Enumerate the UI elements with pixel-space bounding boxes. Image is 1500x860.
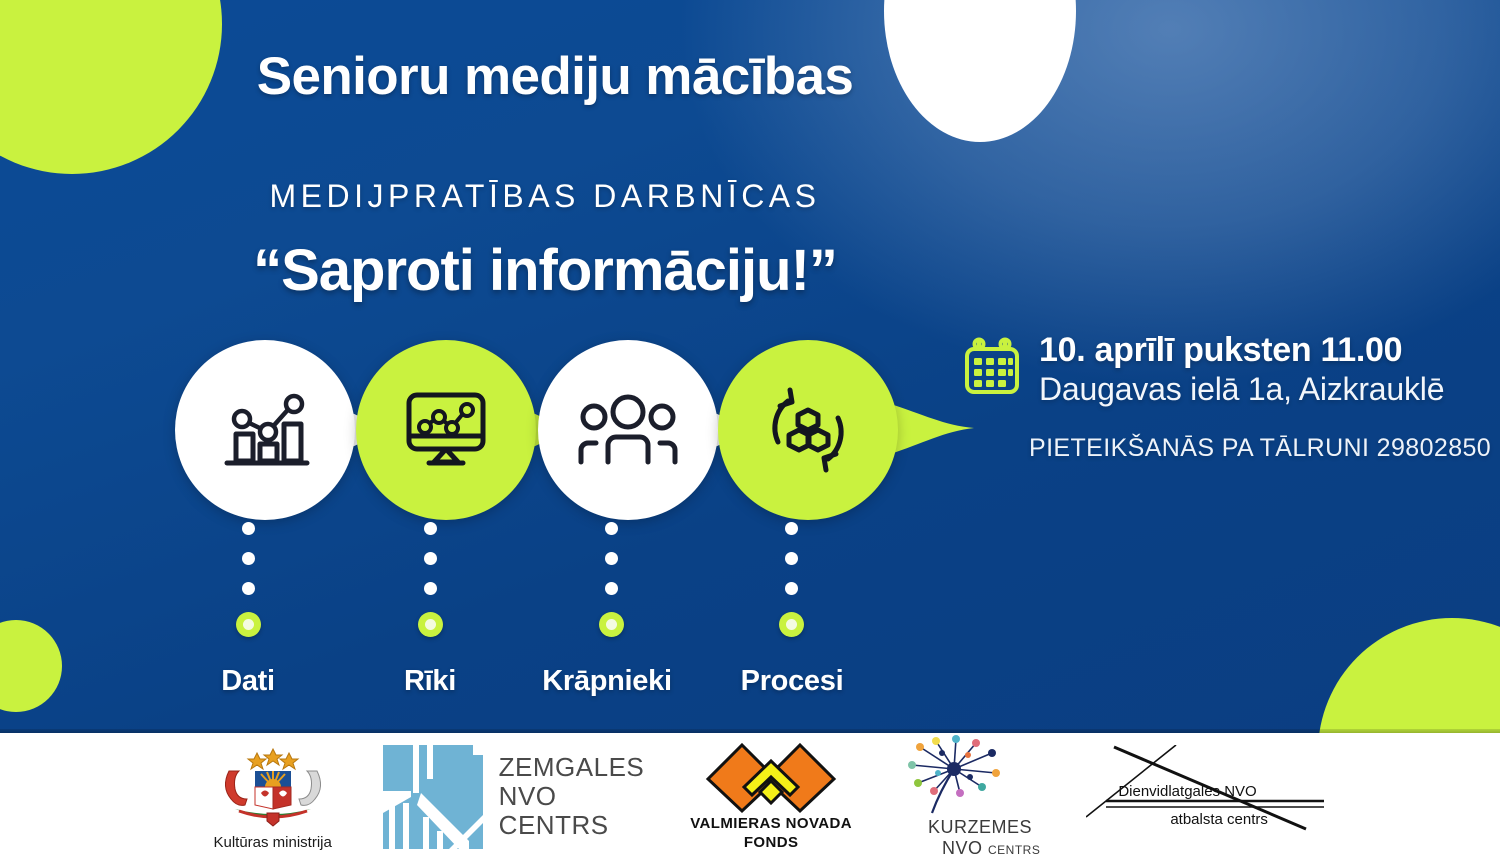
topic-node-riki[interactable] (356, 340, 536, 520)
topic-bubble-row (0, 340, 1000, 520)
logo-line-1: KURZEMES (928, 817, 1032, 838)
registration-phone: PIETEIKŠANĀS PA TĀLRUNI 29802850 (1029, 434, 1493, 463)
stem-dot (242, 552, 255, 565)
kurzemes-dandelion-icon (898, 735, 1010, 817)
topic-stem-krapnieki (581, 522, 641, 637)
valmieras-fonds-mark-icon (704, 741, 838, 815)
stem-dot (785, 522, 798, 535)
bar-chart-icon (217, 387, 313, 473)
logo-caption: Kultūras ministrija (213, 834, 331, 851)
logo-line-3: CENTRS (499, 811, 645, 840)
logo-valmieras-novada-fonds: VALMIERAS NOVADA FONDS (690, 741, 852, 853)
logo-kulturas-ministrija: Kultūras ministrija (209, 743, 337, 851)
stem-end-dot (599, 612, 624, 637)
page-kicker: MEDIJPRATĪBAS DARBNĪCAS (0, 178, 1090, 215)
topic-label-procesi: Procesi (672, 665, 912, 698)
logo-line-2: FONDS (690, 834, 852, 853)
people-group-icon (576, 391, 680, 469)
logo-dienvidlatgales-nvo-atbalsta-centrs: Dienvidlatgales NVO atbalsta centrs (1086, 745, 1331, 849)
logo-line-1: Dienvidlatgales NVO (1118, 783, 1256, 800)
monitor-chart-icon (396, 384, 496, 476)
topic-stem-procesi (761, 522, 821, 637)
stem-dot (605, 522, 618, 535)
stem-dot (424, 552, 437, 565)
topic-node-krapnieki[interactable] (538, 340, 718, 520)
process-cycle-icon (758, 380, 858, 480)
page-title: Senioru mediju mācības (0, 46, 1110, 107)
stem-end-dot (779, 612, 804, 637)
calendar-icon (963, 336, 1021, 396)
stem-end-dot (418, 612, 443, 637)
event-datetime: 10. aprīlī puksten 11.00 (1039, 332, 1444, 369)
event-info: 10. aprīlī puksten 11.00 Daugavas ielā 1… (963, 330, 1493, 463)
decorative-circle-left-edge (0, 620, 62, 712)
logo-line-2-main: NVO (942, 838, 983, 858)
logo-line-2: atbalsta centrs (1170, 811, 1268, 828)
logo-zemgales-nvo-centrs: ZEMGALES NVO CENTRS (383, 745, 645, 849)
poster-root: Senioru mediju mācības MEDIJPRATĪBAS DAR… (0, 0, 1500, 860)
stem-dot (605, 582, 618, 595)
stem-dot (242, 522, 255, 535)
topic-bubble (538, 340, 718, 520)
logo-line-1: VALMIERAS NOVADA (690, 815, 852, 834)
logo-line-2: NVO CENTRS (942, 838, 1040, 859)
logo-wordmark: VALMIERAS NOVADA FONDS (690, 815, 852, 853)
stem-dot (242, 582, 255, 595)
topic-stem-riki (400, 522, 460, 637)
poster-stage: Senioru mediju mācības MEDIJPRATĪBAS DAR… (0, 0, 1500, 733)
stem-dot (424, 522, 437, 535)
topic-bubble (356, 340, 536, 520)
stem-dot (605, 552, 618, 565)
stem-end-dot (236, 612, 261, 637)
decorative-circle-bottom-right (1318, 618, 1500, 733)
topic-bubble (718, 340, 898, 520)
logo-line-3-small: CENTRS (988, 843, 1040, 857)
topic-stem-dati (218, 522, 278, 637)
page-main-title: “Saproti informāciju!” (0, 237, 1090, 304)
zemgales-mark-icon (383, 745, 483, 849)
event-location: Daugavas ielā 1a, Aizkrauklē (1039, 371, 1444, 408)
topic-node-dati[interactable] (175, 340, 355, 520)
topic-node-procesi[interactable] (718, 340, 898, 520)
latvia-coat-of-arms-icon (209, 743, 337, 831)
logo-line-1: ZEMGALES (499, 753, 645, 782)
topic-bubble (175, 340, 355, 520)
logo-kurzemes-nvo-centrs: KURZEMES NVO CENTRS (898, 735, 1040, 859)
logo-wordmark: ZEMGALES NVO CENTRS (499, 753, 645, 840)
sponsor-logo-strip: Kultūras ministrija (0, 733, 1500, 860)
stem-dot (785, 552, 798, 565)
stem-dot (424, 582, 437, 595)
stem-dot (785, 582, 798, 595)
logo-line-2: NVO (499, 782, 645, 811)
calendar-icon-wrap (963, 336, 1021, 401)
